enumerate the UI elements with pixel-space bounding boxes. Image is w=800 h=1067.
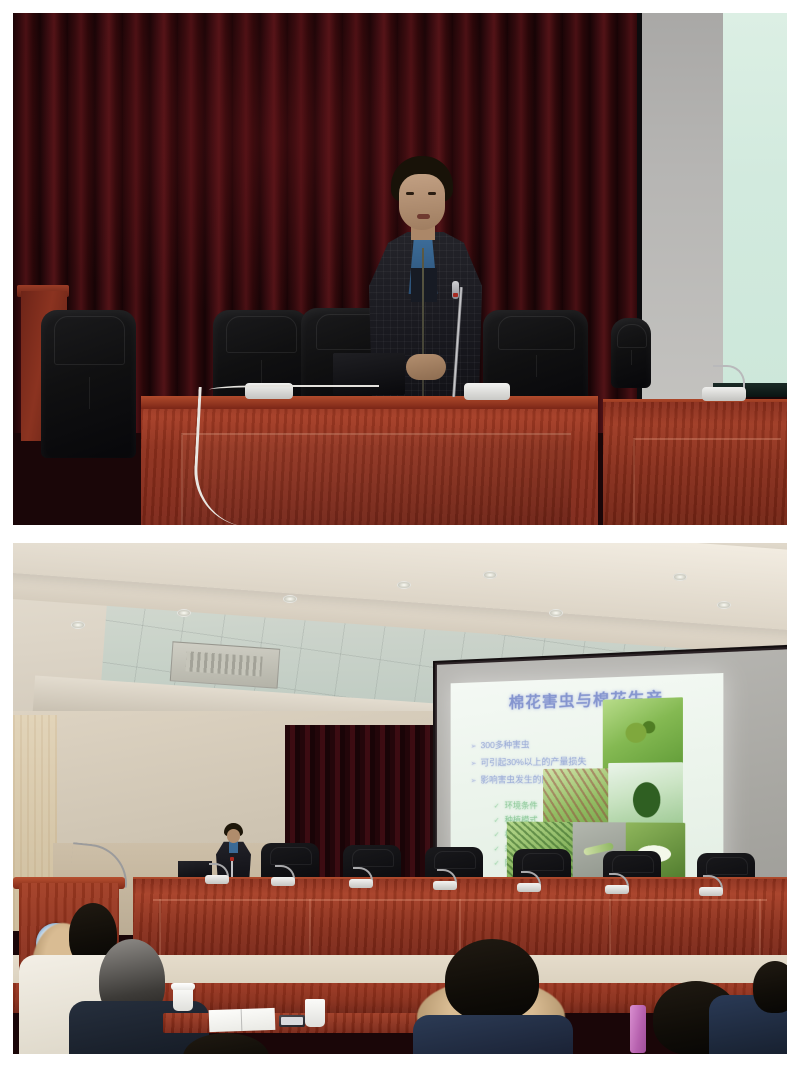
check-icon: ✓	[494, 860, 500, 867]
speaker-hands	[406, 354, 446, 380]
slide-check-text: 环境条件	[505, 802, 538, 810]
bullet-arrow-icon: ➢	[471, 760, 477, 767]
slide-check-item: ✓ 环境条件	[494, 802, 538, 810]
microphone-base	[433, 881, 457, 890]
audience-head	[445, 939, 539, 1021]
photo-lecture-hall-wide: 棉花害虫与棉花生产 ➢ 300多种害虫 ➢ 可引起30%以上的产量损失 ➢ 影	[13, 543, 787, 1054]
ceiling-downlight	[673, 573, 687, 581]
slide-image-stink-bug	[609, 762, 683, 827]
audience-head	[753, 961, 787, 1013]
audience-coat	[413, 1015, 573, 1054]
ac-vent	[170, 641, 281, 688]
ceiling-downlight	[71, 621, 85, 629]
check-icon: ✓	[494, 831, 500, 838]
office-chair	[41, 310, 136, 458]
smartphone	[279, 1015, 305, 1027]
ceiling-downlight	[177, 609, 191, 617]
bullet-arrow-icon: ➢	[471, 777, 477, 784]
slide-bullet-item: ➢ 可引起30%以上的产量损失	[471, 756, 596, 767]
microphone-base	[517, 883, 541, 892]
check-icon: ✓	[494, 817, 500, 824]
slide-bullet-text: 可引起30%以上的产量损失	[480, 757, 586, 767]
speaker-face	[227, 829, 240, 843]
head-table-front-panels	[153, 899, 767, 955]
microphone-indicator	[453, 293, 458, 297]
open-notebook	[209, 1008, 276, 1032]
speaker-eye-left	[406, 192, 414, 195]
office-chair	[611, 318, 651, 388]
vacuum-flask	[630, 1005, 646, 1053]
photo-collage-page: 棉花害虫与棉花生产 ➢ 300多种害虫 ➢ 可引起30%以上的产量损失 ➢ 影	[0, 0, 800, 1067]
slide-bullet-item: ➢ 300多种害虫	[471, 739, 596, 750]
slide-image-aphids	[543, 768, 611, 827]
speaker-inner-top	[411, 268, 437, 302]
slide-bullet-text: 300多种害虫	[480, 740, 529, 750]
check-icon: ✓	[494, 803, 500, 810]
microphone-base	[605, 885, 629, 894]
speaker-mouth	[417, 214, 430, 219]
microphone-base	[702, 387, 746, 401]
paper-cup	[305, 999, 325, 1027]
check-icon: ✓	[494, 846, 500, 853]
projection-screen	[723, 13, 787, 391]
power-cable	[191, 387, 318, 525]
ceiling-downlight	[397, 581, 411, 589]
ceiling-downlight	[283, 595, 297, 603]
photo-speaker-at-table	[13, 13, 787, 525]
cup-lid	[171, 983, 195, 990]
bullet-arrow-icon: ➢	[471, 743, 477, 750]
speaker-eye-right	[428, 192, 436, 195]
microphone-base	[205, 875, 229, 884]
presentation-slide: 棉花害虫与棉花生产 ➢ 300多种害虫 ➢ 可引起30%以上的产量损失 ➢ 影	[450, 673, 723, 908]
microphone-base	[699, 887, 723, 896]
ceiling-downlight	[549, 609, 563, 617]
paper-cup	[173, 987, 193, 1011]
microphone-base	[349, 879, 373, 888]
microphone-base	[464, 383, 510, 400]
ceiling-downlight	[717, 601, 731, 609]
microphone-indicator	[230, 857, 234, 861]
ceiling-downlight	[483, 571, 497, 579]
desk-right-panel	[633, 438, 781, 525]
microphone-base	[271, 877, 295, 886]
speaker-face	[399, 174, 445, 230]
